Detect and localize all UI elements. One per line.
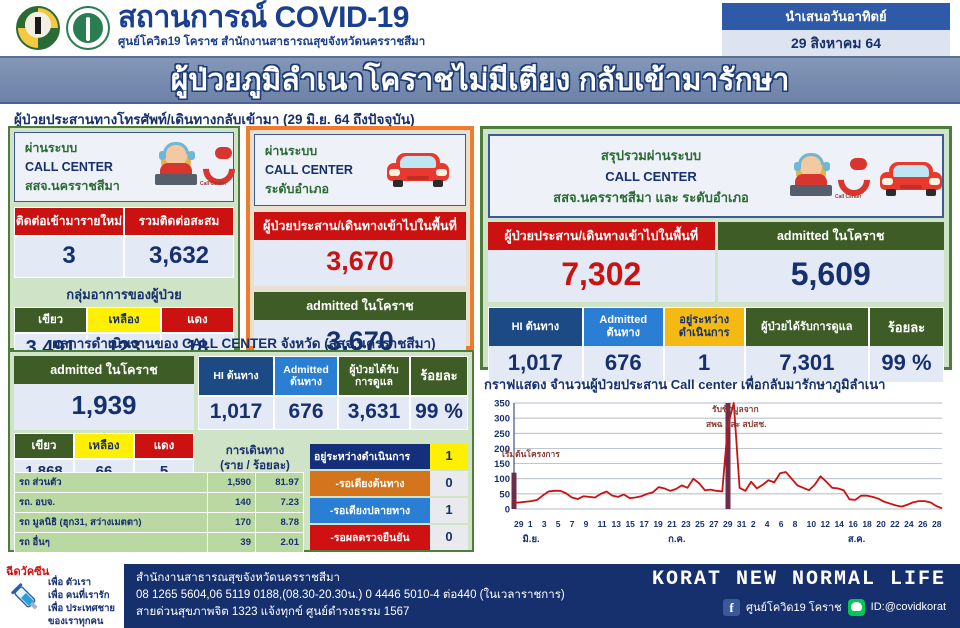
panel-left-head-line1: ผ่านระบบ <box>25 139 120 158</box>
header: สถานการณ์ COVID-19 ศูนย์โควิด19 โคราช สำ… <box>0 0 960 56</box>
header-title-block: สถานการณ์ COVID-19 ศูนย์โควิด19 โคราช สำ… <box>118 2 425 50</box>
summary-green-value: 5,609 <box>718 250 945 302</box>
x-tick-label: 2 <box>751 519 756 529</box>
logo-group <box>16 6 110 50</box>
pending-row-3: -รอผลตรวจยืนยัน 0 <box>310 525 468 550</box>
results-stats-group: HI ต้นทาง Admitted ต้นทาง ผู้ป่วยได้รับ … <box>198 356 468 430</box>
panel-left-head-line3: สสจ.นครราชสีมา <box>25 177 120 196</box>
panel-mid-head-line2: CALL CENTER <box>265 161 353 180</box>
x-tick-label: 20 <box>876 519 885 529</box>
results-stat-0-value: 1,017 <box>198 396 274 430</box>
travel-row-1-pct: 7.23 <box>256 493 304 513</box>
facebook-icon[interactable]: f <box>723 599 740 616</box>
x-tick-label: 24 <box>904 519 913 529</box>
pending-2-label: -รอเตียงปลายทาง <box>310 498 430 523</box>
results-stat-0-header: HI ต้นทาง <box>198 356 274 396</box>
x-tick-label: 17 <box>639 519 648 529</box>
panel-mid-red-header: ผู้ป่วยประสาน/เดินทางเข้าไปในพื้นที่ <box>254 212 466 240</box>
x-tick-label: 9 <box>584 519 589 529</box>
vaccine-line-1: เพื่อ คนที่เรารัก <box>48 589 115 602</box>
pending-row-1: -รอเตียงต้นทาง 0 <box>310 471 468 496</box>
panel-right-head-line2: CALL CENTER <box>553 166 749 187</box>
svg-text:350: 350 <box>494 399 510 410</box>
results-stat-3-value: 99 % <box>410 396 468 430</box>
panel-left-col-values: 3 3,632 <box>14 236 234 278</box>
pending-3-value: 0 <box>430 525 468 550</box>
pending-0-value: 1 <box>430 444 468 469</box>
results-stat-3-header: ร้อยละ <box>410 356 468 396</box>
panel-left-col-headers: ติดต่อเข้ามารายใหม่ รวมติดต่อสะสม <box>14 207 234 236</box>
chart-section: กราฟแสดง จำนวนผู้ป่วยประสาน Call center … <box>480 374 952 560</box>
results-chip-headers: เขียว เหลือง แดง <box>14 433 194 459</box>
stat-2-header: อยู่ระหว่าง ดำเนินการ <box>665 308 744 346</box>
travel-row-1-count: 140 <box>208 493 256 513</box>
pending-0-label: อยู่ระหว่างดำเนินการ <box>310 444 430 469</box>
admitted-korat-value: 1,939 <box>14 384 194 430</box>
vaccine-callout: ฉีดวัคซีน เพื่อ ตัวเรา เพื่อ คนที่เรารัก… <box>6 562 124 580</box>
results-stat-2-value: 3,631 <box>338 396 410 430</box>
panel-right-head-line3: สสจ.นครราชสีมา และ ระดับอำเภอ <box>553 187 749 208</box>
chat-bubble-icon <box>215 147 232 159</box>
x-tick-label: 15 <box>625 519 634 529</box>
x-tick-label: 13 <box>612 519 621 529</box>
stat-0-header: HI ต้นทาง <box>489 308 582 346</box>
new-contacts-value: 3 <box>14 236 124 278</box>
x-tick-label: 29 <box>723 519 732 529</box>
footer-slogan: KORAT NEW NORMAL LIFE <box>652 568 946 591</box>
pending-3-label: -รอผลตรวจยืนยัน <box>310 525 430 550</box>
svg-text:50: 50 <box>499 489 510 500</box>
travel-row-2-pct: 8.78 <box>256 513 304 533</box>
footer-phones: 08 1265 5604,06 5119 0188,(08.30-20.30น.… <box>136 587 565 604</box>
travel-row-2-count: 170 <box>208 513 256 533</box>
panel-summary: สรุปรวมผ่านระบบ CALL CENTER สสจ.นครราชสี… <box>480 126 952 370</box>
date-box: นำเสนอวันอาทิตย์ 29 สิงหาคม 64 <box>722 3 950 58</box>
x-tick-label: 25 <box>695 519 704 529</box>
chat-bubble-icon-2 <box>850 158 867 170</box>
x-tick-label: 26 <box>918 519 927 529</box>
chip-green-label: เขียว <box>14 307 87 333</box>
panel-left-header: ผ่านระบบ CALL CENTER สสจ.นครราชสีมา Call… <box>14 132 234 202</box>
table-row: รถ มูลนิธิ (ฮุก31, สว่างเมตตา) 170 8.78 <box>15 513 304 533</box>
panel-call-center-province: ผ่านระบบ CALL CENTER สสจ.นครราชสีมา Call… <box>8 126 240 350</box>
x-tick-label: 28 <box>932 519 941 529</box>
x-tick-label: 8 <box>793 519 798 529</box>
chart-annotation-0: เริ่มต้นโครงการ <box>502 447 560 461</box>
total-contacts-header: รวมติดต่อสะสม <box>124 207 234 236</box>
panel-left-head-line2: CALL CENTER <box>25 158 120 177</box>
table-row: รถ. อบจ. 140 7.23 <box>15 493 304 513</box>
x-month-label: ก.ค. <box>668 532 685 547</box>
pending-row-0: อยู่ระหว่างดำเนินการ 1 <box>310 444 468 469</box>
call-center-operator-icon-2 <box>786 154 838 198</box>
facebook-page-name[interactable]: ศูนย์โควิด19 โคราช <box>746 598 842 616</box>
summary-red-value: 7,302 <box>488 250 715 302</box>
x-tick-label: 1 <box>528 519 533 529</box>
svg-text:0: 0 <box>505 505 510 516</box>
travel-row-0-label: รถ ส่วนตัว <box>15 473 208 493</box>
total-contacts-value: 3,632 <box>124 236 234 278</box>
ministry-of-health-logo <box>66 6 110 50</box>
panel-mid-header: ผ่านระบบ CALL CENTER ระดับอำเภอ <box>254 134 466 206</box>
results-chip-yellow-label: เหลือง <box>74 433 134 459</box>
table-row: รถ ส่วนตัว 1,590 81.97 <box>15 473 304 493</box>
x-tick-label: 6 <box>779 519 784 529</box>
travel-row-2-label: รถ มูลนิธิ (ฮุก31, สว่างเมตตา) <box>15 513 208 533</box>
svg-text:250: 250 <box>494 429 510 440</box>
page-title: สถานการณ์ COVID-19 <box>118 2 425 34</box>
results-stat-1-header: Admitted ต้นทาง <box>274 356 338 396</box>
panel-right-header: สรุปรวมผ่านระบบ CALL CENTER สสจ.นครราชสี… <box>488 134 944 218</box>
body-area: ผู้ป่วยประสานทางโทรศัพท์/เดินทางกลับเข้า… <box>0 104 960 560</box>
summary-stats-row: HI ต้นทาง1,017 Admitted ต้นทาง676 อยู่ระ… <box>488 307 944 383</box>
footer-contact-info: สำนักงานสาธารณสุขจังหวัดนครราชสีมา 08 12… <box>136 570 565 621</box>
x-tick-label: 21 <box>667 519 676 529</box>
vaccine-line-3: ของเราทุกคน <box>48 615 115 628</box>
summary-red-header: ผู้ป่วยประสาน/เดินทางเข้าไปในพื้นที่ <box>488 222 715 250</box>
stat-3-header: ผู้ป่วยได้รับการดูแล <box>746 308 868 346</box>
results-stat-1-value: 676 <box>274 396 338 430</box>
svg-text:300: 300 <box>494 414 510 425</box>
x-month-label: ส.ค. <box>848 532 865 547</box>
travel-row-3-pct: 2.01 <box>256 533 304 553</box>
pending-row-2: -รอเตียงปลายทาง 1 <box>310 498 468 523</box>
call-center-caption-2: Call Center <box>835 194 861 200</box>
pending-status-group: อยู่ระหว่างดำเนินการ 1 -รอเตียงต้นทาง 0 … <box>310 444 468 552</box>
stat-4-header: ร้อยละ <box>870 308 943 346</box>
travel-mode-table: รถ ส่วนตัว 1,590 81.97 รถ. อบจ. 140 7.23… <box>14 472 304 553</box>
footer-hotline: สายด่วนสุขภาพจิต 1323 แจ้งทุกข์ ศูนย์ดำร… <box>136 604 565 621</box>
chart-x-axis: 2913579111315171921232527293124681012141… <box>480 519 952 547</box>
pending-1-value: 0 <box>430 471 468 496</box>
panel-right-two-columns: ผู้ป่วยประสาน/เดินทางเข้าไปในพื้นที่ 7,3… <box>488 222 944 302</box>
panel-mid-green-header: admitted ในโคราช <box>254 292 466 320</box>
x-month-label: มิ.ย. <box>523 532 540 547</box>
panel-mid-head-line3: ระดับอำเภอ <box>265 180 353 199</box>
car-icon-2 <box>880 162 942 196</box>
x-tick-label: 23 <box>681 519 690 529</box>
symptom-group-title: กลุ่มอาการของผู้ป่วย <box>14 284 234 305</box>
new-contacts-header: ติดต่อเข้ามารายใหม่ <box>14 207 124 236</box>
table-row: รถ อื่นๆ 39 2.01 <box>15 533 304 553</box>
travel-row-3-label: รถ อื่นๆ <box>15 533 208 553</box>
call-center-caption: Call Center <box>200 181 226 187</box>
vaccine-line-2: เพื่อ ประเทศชาย <box>48 602 115 615</box>
stat-1-header: Admitted ต้นทาง <box>584 308 663 346</box>
date-value: 29 สิงหาคม 64 <box>722 30 950 58</box>
summary-green-header: admitted ในโคราช <box>718 222 945 250</box>
results-stats-values: 1,017 676 3,631 99 % <box>198 396 468 430</box>
x-tick-label: 3 <box>542 519 547 529</box>
footer-social: f ศูนย์โควิด19 โคราช ID:@covidkorat <box>723 598 946 616</box>
admitted-korat-header: admitted ในโคราช <box>14 356 194 384</box>
svg-text:100: 100 <box>494 474 510 485</box>
banner-text: ผู้ป่วยภูมิลำเนาโคราชไม่มีเตียง กลับเข้า… <box>171 57 790 104</box>
results-chip-green-label: เขียว <box>14 433 74 459</box>
main-banner: ผู้ป่วยภูมิลำเนาโคราชไม่มีเตียง กลับเข้า… <box>0 56 960 104</box>
x-tick-label: 18 <box>862 519 871 529</box>
line-icon[interactable] <box>848 599 865 616</box>
travel-title: การเดินทาง (ราย / ร้อยละ) <box>200 444 310 474</box>
x-tick-label: 5 <box>556 519 561 529</box>
call-center-results-block: admitted ในโคราช 1,939 เขียว เหลือง แดง … <box>8 350 474 552</box>
panel-mid-head-line1: ผ่านระบบ <box>265 142 353 161</box>
x-tick-label: 19 <box>653 519 662 529</box>
symptom-group-headers: เขียว เหลือง แดง <box>14 307 234 333</box>
x-tick-label: 27 <box>709 519 718 529</box>
x-tick-label: 12 <box>821 519 830 529</box>
x-tick-label: 16 <box>848 519 857 529</box>
x-tick-label: 22 <box>890 519 899 529</box>
line-id[interactable]: ID:@covidkorat <box>871 601 946 613</box>
infographic-page: สถานการณ์ COVID-19 ศูนย์โควิด19 โคราช สำ… <box>0 0 960 628</box>
call-center-operator-icon <box>151 143 203 187</box>
car-icon <box>387 153 449 187</box>
chart-title: กราฟแสดง จำนวนผู้ป่วยประสาน Call center … <box>484 374 952 395</box>
vaccine-lines: เพื่อ ตัวเรา เพื่อ คนที่เรารัก เพื่อ ประ… <box>48 576 115 628</box>
x-tick-label: 7 <box>570 519 575 529</box>
chart-annotation-1: รับข้อมูลจาก <box>712 402 759 416</box>
footer-office: สำนักงานสาธารณสุขจังหวัดนครราชสีมา <box>136 570 565 587</box>
x-tick-label: 4 <box>765 519 770 529</box>
x-tick-label: 11 <box>598 519 607 529</box>
panel-call-center-district: ผ่านระบบ CALL CENTER ระดับอำเภอ ผู้ป่วยป… <box>246 126 474 350</box>
footer: ฉีดวัคซีน เพื่อ ตัวเรา เพื่อ คนที่เรารัก… <box>0 560 960 628</box>
admitted-korat-group: admitted ในโคราช 1,939 เขียว เหลือง แดง … <box>14 356 194 486</box>
travel-row-3-count: 39 <box>208 533 256 553</box>
travel-row-1-label: รถ. อบจ. <box>15 493 208 513</box>
travel-row-0-pct: 81.97 <box>256 473 304 493</box>
chart-annotation-2: สพฉ และ สปสช. <box>706 417 766 431</box>
line-chart: 050100150200250300350 เริ่มต้นโครงการ รั… <box>480 399 946 519</box>
travel-row-0-count: 1,590 <box>208 473 256 493</box>
x-tick-label: 29 <box>514 519 523 529</box>
results-stats-headers: HI ต้นทาง Admitted ต้นทาง ผู้ป่วยได้รับ … <box>198 356 468 396</box>
x-tick-label: 31 <box>737 519 746 529</box>
syringe-icon <box>10 582 44 616</box>
panel-mid-red-value: 3,670 <box>254 240 466 286</box>
panel-right-head-line1: สรุปรวมผ่านระบบ <box>553 145 749 166</box>
x-tick-label: 10 <box>807 519 816 529</box>
chip-red-label: แดง <box>161 307 234 333</box>
page-subtitle: ศูนย์โควิด19 โคราช สำนักงานสาธารณสุขจังห… <box>118 34 425 50</box>
pending-2-value: 1 <box>430 498 468 523</box>
korat-province-logo <box>16 6 60 50</box>
results-chip-red-label: แดง <box>134 433 194 459</box>
x-tick-label: 14 <box>834 519 843 529</box>
date-label: นำเสนอวันอาทิตย์ <box>722 3 950 30</box>
vaccine-line-0: เพื่อ ตัวเรา <box>48 576 115 589</box>
pending-1-label: -รอเตียงต้นทาง <box>310 471 430 496</box>
chip-yellow-label: เหลือง <box>87 307 160 333</box>
results-stat-2-header: ผู้ป่วยได้รับ การดูแล <box>338 356 410 396</box>
travel-title-line1: การเดินทาง <box>200 444 310 459</box>
